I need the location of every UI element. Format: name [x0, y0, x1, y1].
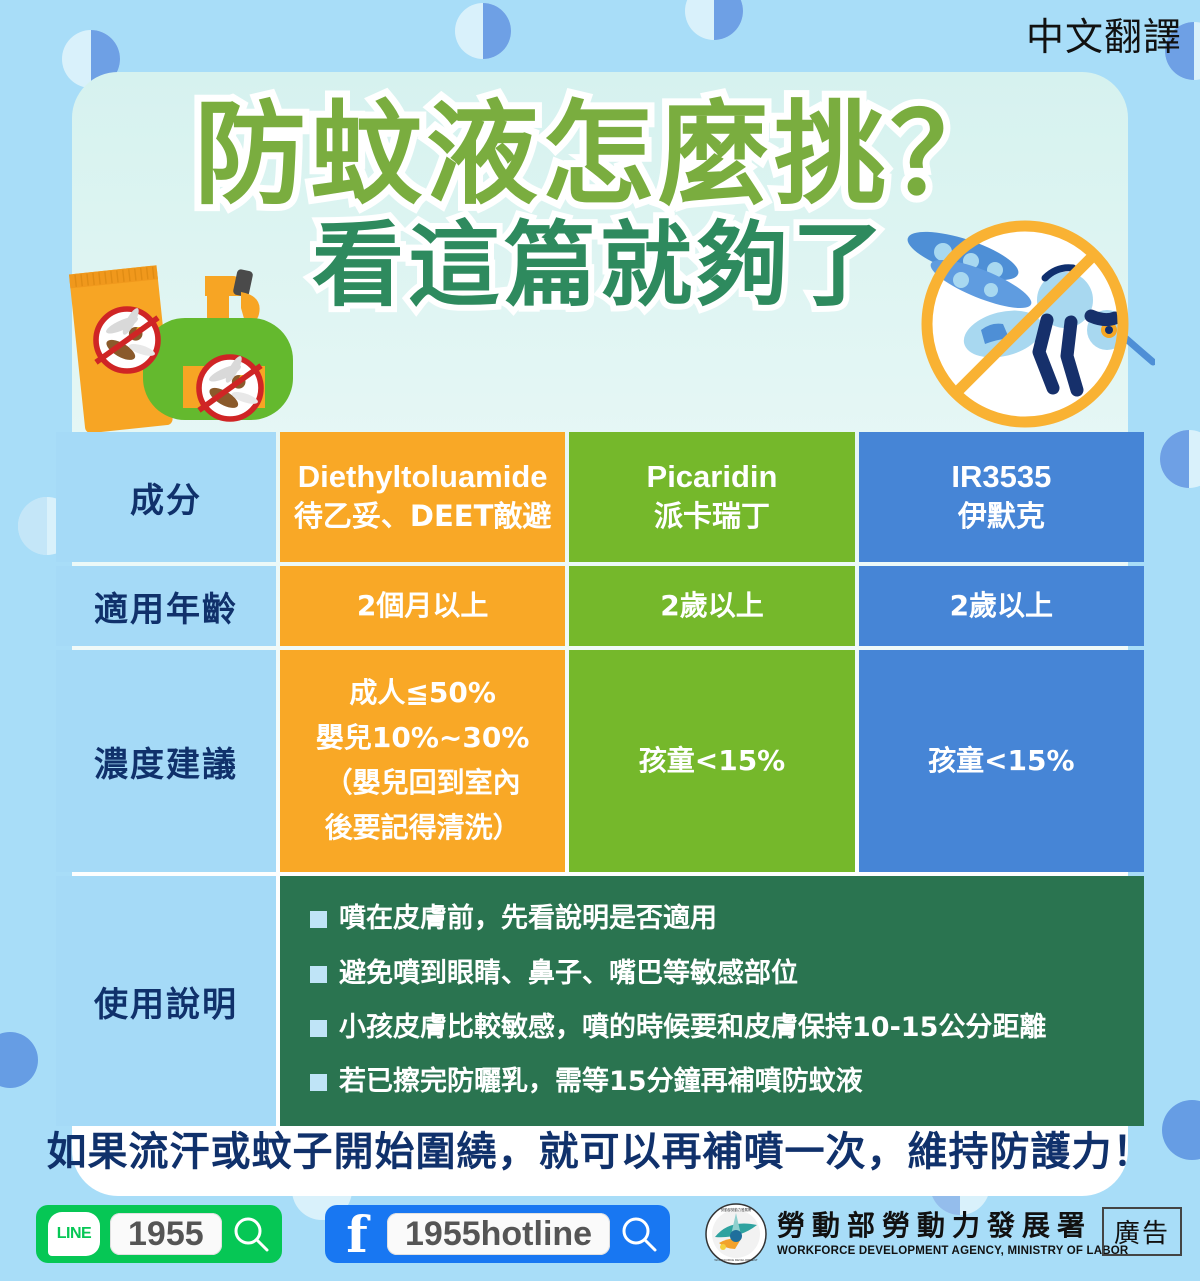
row-label-ingredient: 成分 [56, 432, 276, 562]
row-label-age: 適用年齡 [56, 566, 276, 646]
ir3535-en: IR3535 [859, 458, 1144, 497]
conc-picaridin: 孩童<15% [569, 650, 854, 872]
age-picaridin: 2歲以上 [569, 566, 854, 646]
agency-name-zh: 勞動部勞動力發展署 [777, 1211, 1128, 1242]
bullet-square-icon [310, 966, 327, 983]
ir3535-zh: 伊默克 [859, 497, 1144, 536]
deco-circle-left-1b [18, 497, 47, 555]
picaridin-en: Picaridin [569, 458, 854, 497]
cell-deet: Diethyltoluamide 待乙妥、DEET敵避 [280, 432, 565, 562]
conc-deet: 成人≦50% 嬰兒10%~30% （嬰兒回到室內 後要記得清洗） [280, 650, 565, 872]
table-row-ingredient: 成分 Diethyltoluamide 待乙妥、DEET敵避 Picaridin… [56, 432, 1144, 562]
deco-circle-top-2b [483, 3, 511, 59]
bullet-square-icon [310, 911, 327, 928]
agency-block: 勞動部勞動力發展署 WORKFORCE DEVELOPMENT 勞動部勞動力發展… [705, 1203, 1128, 1265]
bullet-square-icon [310, 1074, 327, 1091]
usage-text-2: 小孩皮膚比較敏感，噴的時候要和皮膚保持10-15公分距離 [339, 1010, 1046, 1046]
bullet-square-icon [310, 1020, 327, 1037]
list-item: 若已擦完防曬乳，需等15分鐘再補噴防蚊液 [310, 1064, 1134, 1100]
table-row-age: 適用年齡 2個月以上 2歲以上 2歲以上 [56, 566, 1144, 646]
facebook-icon: f [337, 1210, 377, 1258]
usage-instructions: 噴在皮膚前，先看說明是否適用 避免噴到眼睛、鼻子、嘴巴等敏感部位 小孩皮膚比較敏… [280, 876, 1144, 1126]
line-contact-chip[interactable]: LINE 1955 [36, 1205, 282, 1263]
facebook-contact-chip[interactable]: f 1955hotline [325, 1205, 670, 1263]
search-icon[interactable] [232, 1215, 270, 1253]
line-id-value: 1955 [110, 1213, 222, 1255]
line-icon: LINE [48, 1212, 100, 1256]
agency-logo-icon: 勞動部勞動力發展署 WORKFORCE DEVELOPMENT [705, 1203, 767, 1265]
facebook-page-value: 1955hotline [387, 1213, 610, 1255]
list-item: 噴在皮膚前，先看說明是否適用 [310, 901, 1134, 937]
deet-zh: 待乙妥、DEET敵避 [280, 497, 565, 536]
table-row-concentration: 濃度建議 成人≦50% 嬰兒10%~30% （嬰兒回到室內 後要記得清洗） 孩童… [56, 650, 1144, 872]
row-label-concentration: 濃度建議 [56, 650, 276, 872]
picaridin-zh: 派卡瑞丁 [569, 497, 854, 536]
agency-name-en: WORKFORCE DEVELOPMENT AGENCY, MINISTRY O… [777, 1245, 1128, 1258]
list-item: 避免噴到眼睛、鼻子、嘴巴等敏感部位 [310, 956, 1134, 992]
svg-text:WORKFORCE DEVELOPMENT: WORKFORCE DEVELOPMENT [714, 1258, 758, 1262]
search-icon[interactable] [620, 1215, 658, 1253]
translation-label: 中文翻譯 [1026, 18, 1182, 56]
usage-text-0: 噴在皮膚前，先看說明是否適用 [339, 901, 717, 937]
deco-circle-top-3b [714, 0, 743, 40]
conc-deet-line-2: （嬰兒回到室內 [280, 761, 565, 806]
age-deet: 2個月以上 [280, 566, 565, 646]
table-row-usage: 使用說明 噴在皮膚前，先看說明是否適用 避免噴到眼睛、鼻子、嘴巴等敏感部位 小孩… [56, 876, 1144, 1126]
row-label-usage: 使用說明 [56, 876, 276, 1126]
usage-text-3: 若已擦完防曬乳，需等15分鐘再補噴防蚊液 [339, 1064, 863, 1100]
conc-ir3535: 孩童<15% [859, 650, 1144, 872]
cell-picaridin: Picaridin 派卡瑞丁 [569, 432, 854, 562]
no-mosquito-illustration [895, 212, 1155, 444]
repellent-comparison-table: 成分 Diethyltoluamide 待乙妥、DEET敵避 Picaridin… [52, 428, 1148, 1130]
cell-ir3535: IR3535 伊默克 [859, 432, 1144, 562]
age-ir3535: 2歲以上 [859, 566, 1144, 646]
svg-text:勞動部勞動力發展署: 勞動部勞動力發展署 [721, 1207, 752, 1212]
conc-deet-line-3: 後要記得清洗） [280, 806, 565, 851]
ad-label: 廣告 [1102, 1207, 1182, 1256]
conc-deet-line-1: 嬰兒10%~30% [280, 716, 565, 761]
repellent-bottles-illustration [55, 248, 305, 438]
deco-circle-left-2 [0, 1032, 38, 1088]
conc-deet-line-0: 成人≦50% [280, 671, 565, 716]
tagline: 如果流汗或蚊子開始圍繞，就可以再補噴一次，維持防護力！ [0, 1119, 1200, 1177]
usage-text-1: 避免噴到眼睛、鼻子、嘴巴等敏感部位 [339, 956, 798, 992]
footer-bar: LINE 1955 f 1955hotline 勞動部勞動力發展署 WORKFO… [0, 1203, 1200, 1273]
list-item: 小孩皮膚比較敏感，噴的時候要和皮膚保持10-15公分距離 [310, 1010, 1134, 1046]
deet-en: Diethyltoluamide [280, 458, 565, 497]
usage-list: 噴在皮膚前，先看說明是否適用 避免噴到眼睛、鼻子、嘴巴等敏感部位 小孩皮膚比較敏… [310, 901, 1134, 1101]
deco-circle-right-2b [1160, 430, 1189, 488]
